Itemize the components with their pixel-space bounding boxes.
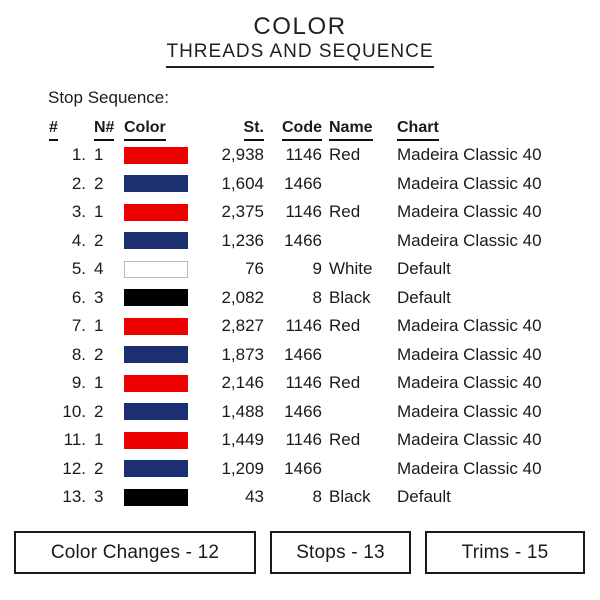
color-name: Red [322, 141, 397, 170]
row-index: 1. [46, 141, 94, 170]
row-index: 7. [46, 312, 94, 341]
stitch-count: 2,082 [202, 284, 264, 313]
thread-code: 1146 [264, 369, 322, 398]
trims-box: Trims - 15 [425, 531, 585, 574]
thread-chart: Madeira Classic 40 [397, 369, 566, 398]
needle-number: 2 [94, 227, 124, 256]
needle-number: 2 [94, 398, 124, 427]
thread-code: 1146 [264, 312, 322, 341]
page-subtitle-rule: THREADS AND SEQUENCE [166, 42, 433, 68]
stitch-count: 43 [202, 483, 264, 512]
page-title: COLOR [0, 14, 600, 39]
color-threads-sequence-sheet: COLOR THREADS AND SEQUENCE Stop Sequence… [0, 0, 600, 600]
row-index: 3. [46, 198, 94, 227]
color-changes-box: Color Changes - 12 [14, 531, 256, 574]
column-header-name: Name [322, 117, 397, 141]
table-row: 8.21,8731466Madeira Classic 40 [46, 341, 566, 370]
row-index: 8. [46, 341, 94, 370]
color-swatch [124, 489, 188, 506]
stops-box: Stops - 13 [270, 531, 411, 574]
thread-chart: Madeira Classic 40 [397, 312, 566, 341]
needle-number: 1 [94, 141, 124, 170]
needle-number: 3 [94, 284, 124, 313]
column-header-stitches: St. [202, 117, 264, 141]
color-name: Black [322, 284, 397, 313]
table-row: 4.21,2361466Madeira Classic 40 [46, 227, 566, 256]
needle-number: 3 [94, 483, 124, 512]
color-swatch-cell [124, 426, 202, 455]
thread-code: 1466 [264, 341, 322, 370]
stitch-count: 1,236 [202, 227, 264, 256]
color-swatch [124, 175, 188, 192]
color-name: Red [322, 198, 397, 227]
table-body: 1.12,9381146RedMadeira Classic 402.21,60… [46, 141, 566, 512]
color-swatch [124, 375, 188, 392]
thread-code: 8 [264, 284, 322, 313]
color-name: Red [322, 369, 397, 398]
color-swatch [124, 289, 188, 306]
color-swatch [124, 460, 188, 477]
row-index: 13. [46, 483, 94, 512]
color-swatch-cell [124, 198, 202, 227]
thread-code: 1466 [264, 455, 322, 484]
color-swatch [124, 204, 188, 221]
color-name [322, 455, 397, 484]
table-row: 2.21,6041466Madeira Classic 40 [46, 170, 566, 199]
color-name: White [322, 255, 397, 284]
row-index: 2. [46, 170, 94, 199]
color-swatch-cell [124, 227, 202, 256]
color-swatch [124, 318, 188, 335]
color-name: Red [322, 312, 397, 341]
needle-number: 1 [94, 198, 124, 227]
thread-code: 1466 [264, 398, 322, 427]
color-swatch-cell [124, 284, 202, 313]
row-index: 9. [46, 369, 94, 398]
table-row: 7.12,8271146RedMadeira Classic 40 [46, 312, 566, 341]
stitch-count: 1,209 [202, 455, 264, 484]
stitch-count: 1,604 [202, 170, 264, 199]
thread-code: 8 [264, 483, 322, 512]
stitch-count: 1,873 [202, 341, 264, 370]
column-header-index: # [46, 117, 94, 141]
needle-number: 1 [94, 312, 124, 341]
color-swatch-cell [124, 255, 202, 284]
stitch-count: 1,449 [202, 426, 264, 455]
color-swatch [124, 346, 188, 363]
sheet-header: COLOR THREADS AND SEQUENCE [0, 0, 600, 68]
thread-chart: Madeira Classic 40 [397, 170, 566, 199]
color-swatch-cell [124, 369, 202, 398]
summary-bar: Color Changes - 12 Stops - 13 Trims - 15 [14, 531, 586, 574]
needle-number: 2 [94, 170, 124, 199]
needle-number: 1 [94, 369, 124, 398]
color-name [322, 227, 397, 256]
stop-sequence-table: # N# Color St. Code Name Chart 1.12,9381… [46, 117, 566, 512]
thread-chart: Madeira Classic 40 [397, 141, 566, 170]
thread-code: 1146 [264, 141, 322, 170]
color-swatch [124, 432, 188, 449]
color-name: Red [322, 426, 397, 455]
row-index: 4. [46, 227, 94, 256]
thread-chart: Madeira Classic 40 [397, 455, 566, 484]
column-header-color: Color [124, 117, 202, 141]
column-header-needle: N# [94, 117, 124, 141]
color-swatch-cell [124, 312, 202, 341]
color-swatch-cell [124, 170, 202, 199]
page-subtitle: THREADS AND SEQUENCE [166, 42, 433, 63]
table-row: 9.12,1461146RedMadeira Classic 40 [46, 369, 566, 398]
color-name [322, 398, 397, 427]
color-swatch-cell [124, 398, 202, 427]
table-row: 1.12,9381146RedMadeira Classic 40 [46, 141, 566, 170]
color-swatch [124, 147, 188, 164]
thread-chart: Madeira Classic 40 [397, 198, 566, 227]
color-swatch [124, 261, 188, 278]
stitch-count: 76 [202, 255, 264, 284]
needle-number: 2 [94, 455, 124, 484]
thread-chart: Default [397, 255, 566, 284]
table-row: 5.4769WhiteDefault [46, 255, 566, 284]
row-index: 10. [46, 398, 94, 427]
table-row: 11.11,4491146RedMadeira Classic 40 [46, 426, 566, 455]
thread-code: 1146 [264, 426, 322, 455]
color-swatch [124, 232, 188, 249]
thread-code: 1466 [264, 170, 322, 199]
color-name [322, 341, 397, 370]
needle-number: 2 [94, 341, 124, 370]
color-name [322, 170, 397, 199]
thread-chart: Madeira Classic 40 [397, 227, 566, 256]
table-row: 12.21,2091466Madeira Classic 40 [46, 455, 566, 484]
stitch-count: 2,827 [202, 312, 264, 341]
table-row: 13.3438BlackDefault [46, 483, 566, 512]
stitch-count: 1,488 [202, 398, 264, 427]
thread-code: 9 [264, 255, 322, 284]
color-swatch [124, 403, 188, 420]
color-name: Black [322, 483, 397, 512]
stop-sequence-label: Stop Sequence: [48, 88, 169, 108]
thread-chart: Default [397, 483, 566, 512]
thread-chart: Madeira Classic 40 [397, 341, 566, 370]
column-header-chart: Chart [397, 117, 566, 141]
row-index: 11. [46, 426, 94, 455]
table-row: 10.21,4881466Madeira Classic 40 [46, 398, 566, 427]
thread-code: 1466 [264, 227, 322, 256]
thread-chart: Default [397, 284, 566, 313]
color-swatch-cell [124, 341, 202, 370]
thread-chart: Madeira Classic 40 [397, 426, 566, 455]
column-header-code: Code [264, 117, 322, 141]
needle-number: 1 [94, 426, 124, 455]
stitch-count: 2,375 [202, 198, 264, 227]
row-index: 6. [46, 284, 94, 313]
row-index: 12. [46, 455, 94, 484]
stitch-count: 2,146 [202, 369, 264, 398]
table-row: 3.12,3751146RedMadeira Classic 40 [46, 198, 566, 227]
color-swatch-cell [124, 141, 202, 170]
stitch-count: 2,938 [202, 141, 264, 170]
table-row: 6.32,0828BlackDefault [46, 284, 566, 313]
needle-number: 4 [94, 255, 124, 284]
thread-chart: Madeira Classic 40 [397, 398, 566, 427]
color-swatch-cell [124, 455, 202, 484]
color-swatch-cell [124, 483, 202, 512]
row-index: 5. [46, 255, 94, 284]
thread-code: 1146 [264, 198, 322, 227]
table-header-row: # N# Color St. Code Name Chart [46, 117, 566, 141]
